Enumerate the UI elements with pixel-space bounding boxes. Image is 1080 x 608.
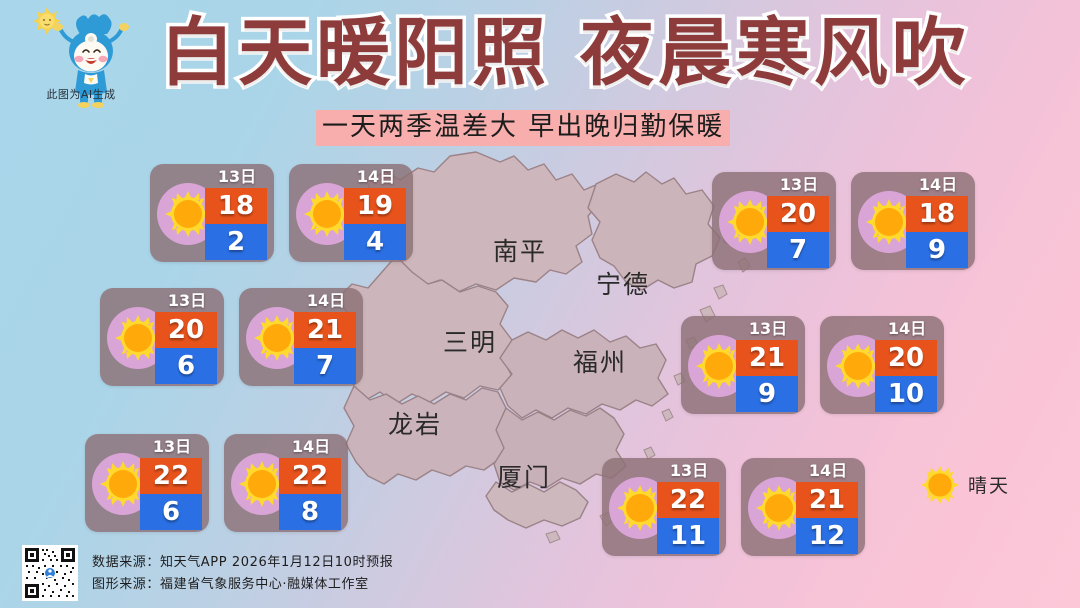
card-high-temp: 22 (140, 458, 202, 494)
card-high-temp: 22 (279, 458, 341, 494)
card-high-temp: 20 (875, 340, 937, 376)
card-low-temp: 11 (657, 518, 719, 554)
card-day-label: 14日 (295, 291, 357, 311)
card-day-label: 13日 (141, 437, 203, 457)
card-high-temp: 18 (205, 188, 267, 224)
legend-label: 晴天 (968, 471, 1010, 498)
card-fuzhou-13: 13日219 (681, 316, 805, 414)
card-ningde-13: 13日207 (712, 172, 836, 270)
card-sanming-13: 13日206 (100, 288, 224, 386)
card-day-label: 14日 (876, 319, 938, 339)
card-day-label: 14日 (345, 167, 407, 187)
card-low-temp: 7 (767, 232, 829, 268)
sun-icon (920, 465, 960, 505)
map-label-xiamen: 厦门 (497, 458, 551, 494)
card-sanming-14: 14日217 (239, 288, 363, 386)
card-low-temp: 9 (906, 232, 968, 268)
card-low-temp: 2 (205, 224, 267, 260)
page-subtitle: 一天两季温差大 早出晚归勤保暖 (316, 110, 730, 146)
qr-code-icon[interactable] (22, 545, 78, 601)
card-day-label: 13日 (737, 319, 799, 339)
card-day-label: 13日 (206, 167, 268, 187)
card-low-temp: 6 (155, 348, 217, 384)
card-xiamen-14: 14日2112 (741, 458, 865, 556)
card-ningde-14: 14日189 (851, 172, 975, 270)
map-label-ningde: 宁德 (596, 265, 650, 301)
card-high-temp: 21 (736, 340, 798, 376)
card-low-temp: 7 (294, 348, 356, 384)
legend: 晴天 (920, 463, 1060, 507)
card-high-temp: 19 (344, 188, 406, 224)
card-xiamen-13: 13日2211 (602, 458, 726, 556)
card-nanping-14: 14日194 (289, 164, 413, 262)
card-day-label: 14日 (797, 461, 859, 481)
card-day-label: 13日 (658, 461, 720, 481)
card-low-temp: 10 (875, 376, 937, 412)
card-high-temp: 21 (796, 482, 858, 518)
map-label-sanming: 三明 (443, 323, 497, 359)
card-longyan-14: 14日228 (224, 434, 348, 532)
card-day-label: 13日 (768, 175, 830, 195)
card-day-label: 14日 (907, 175, 969, 195)
card-high-temp: 20 (767, 196, 829, 232)
map-label-fuzhou: 福州 (573, 343, 627, 379)
card-low-temp: 8 (279, 494, 341, 530)
card-day-label: 14日 (280, 437, 342, 457)
page-title-text: 白天暖阳照 夜晨寒风吹 (160, 10, 970, 96)
card-low-temp: 9 (736, 376, 798, 412)
map-label-nanping: 南平 (493, 232, 547, 268)
card-low-temp: 6 (140, 494, 202, 530)
card-high-temp: 20 (155, 312, 217, 348)
card-low-temp: 12 (796, 518, 858, 554)
footer-data-source: 数据来源：知天气APP 2026年1月12日10时预报 (92, 551, 393, 570)
card-day-label: 13日 (156, 291, 218, 311)
card-high-temp: 21 (294, 312, 356, 348)
map-label-longyan: 龙岩 (388, 405, 442, 441)
card-nanping-13: 13日182 (150, 164, 274, 262)
page-title: 白天暖阳照 夜晨寒风吹 (150, 12, 980, 94)
mascot-caption: 此图为AI生成 (22, 86, 140, 102)
infographic-canvas: 南平宁德三明福州龙岩厦门 (0, 0, 1080, 608)
card-longyan-13: 13日226 (85, 434, 209, 532)
footer-graphic-source: 图形来源：福建省气象服务中心·融媒体工作室 (92, 573, 369, 592)
card-low-temp: 4 (344, 224, 406, 260)
card-high-temp: 18 (906, 196, 968, 232)
card-fuzhou-14: 14日2010 (820, 316, 944, 414)
card-high-temp: 22 (657, 482, 719, 518)
